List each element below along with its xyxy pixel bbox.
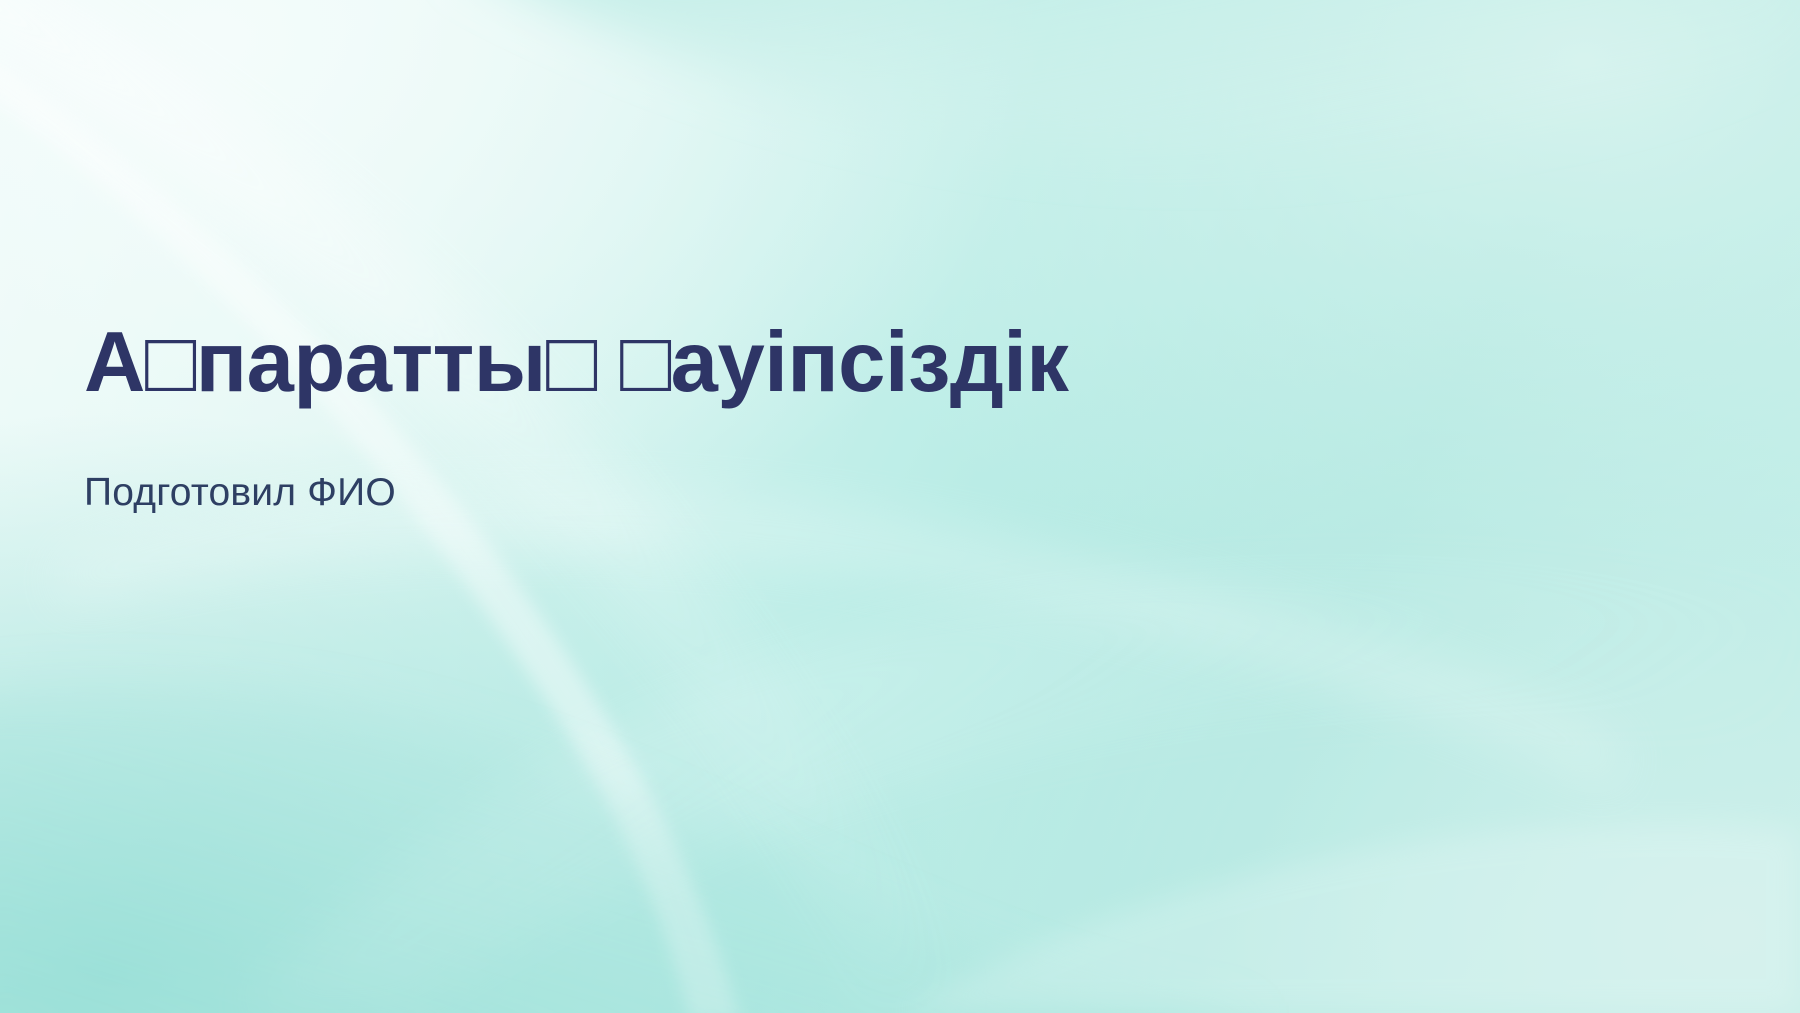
- wave-under-title-swoosh: [60, 489, 1620, 790]
- title-slide: А□паратты□ □ауіпсіздік Подготовил ФИО: [0, 0, 1800, 1013]
- title-block: А□паратты□ □ауіпсіздік Подготовил ФИО: [84, 318, 1584, 517]
- page-title: А□паратты□ □ауіпсіздік: [84, 318, 1584, 408]
- wave-top-swoosh: [470, 0, 1800, 161]
- wave-bottom-right-crest: [900, 823, 1800, 1013]
- wave-middle-swoosh: [240, 567, 1800, 1013]
- wave-bottom-swoosh: [0, 688, 1240, 1013]
- slide-subtitle: Подготовил ФИО: [84, 408, 1584, 517]
